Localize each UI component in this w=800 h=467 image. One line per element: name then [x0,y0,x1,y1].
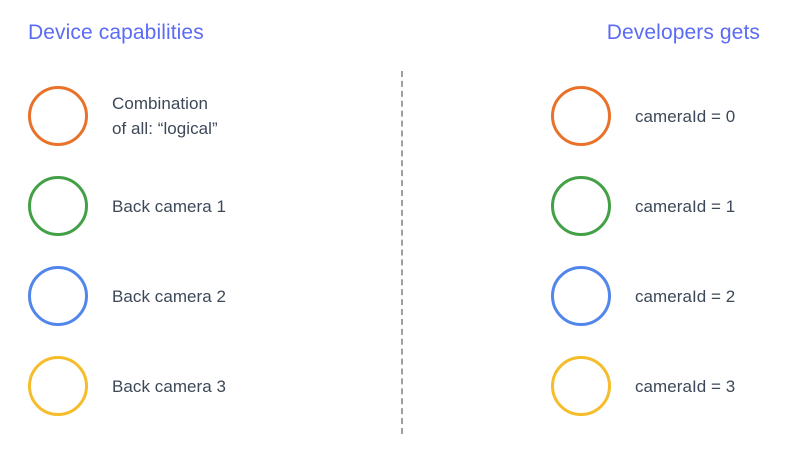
circle-green-icon [551,176,611,236]
circle-blue-icon [551,266,611,326]
list-item-label: cameraId = 0 [635,104,735,129]
circle-blue-icon [28,266,88,326]
circle-orange-icon [551,86,611,146]
list-item: cameraId = 3 [551,356,735,416]
circle-yellow-icon [551,356,611,416]
circle-orange-icon [28,86,88,146]
right-column-heading: Developers gets [607,22,760,43]
list-item: cameraId = 0 [551,86,735,146]
developers-gets-column: cameraId = 0 cameraId = 1 cameraId = 2 c… [551,86,735,416]
diagram-canvas: Device capabilities Developers gets Comb… [0,0,800,467]
device-capabilities-column: Combination of all: “logical” Back camer… [28,86,226,416]
list-item-label: cameraId = 3 [635,374,735,399]
list-item-label: cameraId = 2 [635,284,735,309]
list-item-label: Back camera 1 [112,194,226,219]
list-item: cameraId = 2 [551,266,735,326]
circle-green-icon [28,176,88,236]
circle-yellow-icon [28,356,88,416]
list-item: Back camera 1 [28,176,226,236]
list-item-label: cameraId = 1 [635,194,735,219]
list-item: Back camera 2 [28,266,226,326]
left-column-heading: Device capabilities [28,22,204,43]
list-item-label: Back camera 3 [112,374,226,399]
vertical-dashed-divider [401,71,403,434]
list-item: Back camera 3 [28,356,226,416]
list-item-label: Combination of all: “logical” [112,91,218,141]
list-item: cameraId = 1 [551,176,735,236]
list-item-label: Back camera 2 [112,284,226,309]
list-item: Combination of all: “logical” [28,86,226,146]
